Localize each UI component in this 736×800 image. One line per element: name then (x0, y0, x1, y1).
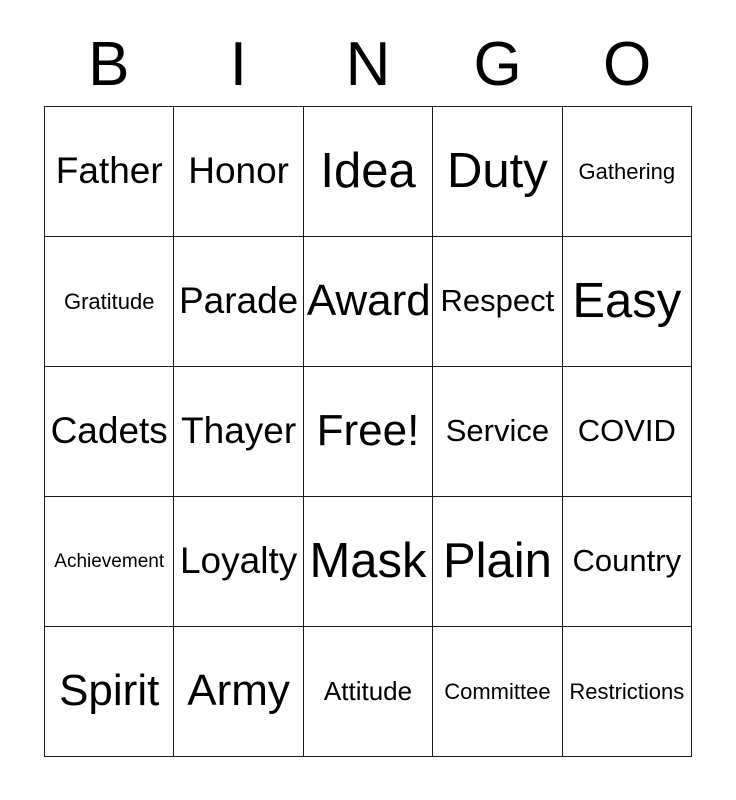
bingo-cell-label: Award (307, 278, 429, 324)
bingo-cell-label: Army (177, 668, 299, 714)
bingo-cell[interactable]: Award (304, 237, 433, 367)
bingo-cell-label: Mask (307, 536, 429, 587)
header-letter-label: G (473, 34, 521, 96)
bingo-cell-label: Loyalty (177, 542, 299, 581)
bingo-cell[interactable]: Attitude (304, 627, 433, 757)
bingo-cell[interactable]: Gathering (563, 107, 692, 237)
bingo-cell-label: Duty (436, 146, 558, 197)
bingo-cell-label: Thayer (177, 412, 299, 451)
bingo-cell[interactable]: Loyalty (174, 497, 303, 627)
header-letter-label: B (88, 34, 129, 96)
bingo-cell[interactable]: Country (563, 497, 692, 627)
bingo-cell[interactable]: Gratitude (45, 237, 174, 367)
bingo-cell[interactable]: COVID (563, 367, 692, 497)
header-letter-o: O (562, 30, 692, 100)
bingo-cell[interactable]: Respect (433, 237, 562, 367)
bingo-cell-label: Idea (307, 146, 429, 197)
bingo-cell-label: Father (48, 152, 170, 191)
bingo-header: B I N G O (44, 30, 692, 100)
bingo-cell[interactable]: Achievement (45, 497, 174, 627)
bingo-cell[interactable]: Parade (174, 237, 303, 367)
bingo-card: B I N G O Father Honor Idea Duty (0, 0, 736, 800)
bingo-cell-label: COVID (566, 415, 688, 448)
bingo-cell-label: Free! (307, 408, 429, 454)
bingo-cell[interactable]: Restrictions (563, 627, 692, 757)
header-letter-n: N (303, 30, 433, 100)
bingo-cell[interactable]: Mask (304, 497, 433, 627)
bingo-cell-label: Committee (436, 680, 558, 703)
bingo-cell-label: Respect (436, 285, 558, 318)
bingo-grid: Father Honor Idea Duty Gathering Gratitu… (44, 106, 692, 757)
bingo-cell-label: Cadets (48, 412, 170, 451)
bingo-cell[interactable]: Spirit (45, 627, 174, 757)
bingo-cell[interactable]: Service (433, 367, 562, 497)
bingo-cell[interactable]: Honor (174, 107, 303, 237)
bingo-row: Spirit Army Attitude Committee Restricti… (45, 627, 692, 757)
bingo-cell-label: Plain (436, 536, 558, 587)
bingo-row: Father Honor Idea Duty Gathering (45, 107, 692, 237)
bingo-cell-label: Easy (566, 276, 688, 327)
bingo-row: Cadets Thayer Free! Service COVID (45, 367, 692, 497)
bingo-cell-label: Attitude (307, 678, 429, 705)
bingo-cell[interactable]: Idea (304, 107, 433, 237)
header-letter-b: B (44, 30, 174, 100)
header-letter-label: N (346, 34, 391, 96)
bingo-cell[interactable]: Committee (433, 627, 562, 757)
header-letter-label: O (603, 34, 651, 96)
bingo-cell-label: Gratitude (48, 290, 170, 313)
bingo-cell[interactable]: Easy (563, 237, 692, 367)
bingo-cell[interactable]: Duty (433, 107, 562, 237)
bingo-row: Achievement Loyalty Mask Plain Country (45, 497, 692, 627)
header-letter-label: I (230, 34, 247, 96)
bingo-cell[interactable]: Army (174, 627, 303, 757)
bingo-cell[interactable]: Cadets (45, 367, 174, 497)
bingo-cell-label: Spirit (48, 668, 170, 714)
bingo-cell-label: Country (566, 545, 688, 578)
bingo-cell-label: Gathering (566, 160, 688, 183)
bingo-cell[interactable]: Father (45, 107, 174, 237)
bingo-cell-label: Achievement (48, 552, 170, 572)
bingo-cell[interactable]: Thayer (174, 367, 303, 497)
bingo-cell-label: Honor (177, 152, 299, 191)
bingo-cell-free-space[interactable]: Free! (304, 367, 433, 497)
header-letter-i: I (174, 30, 304, 100)
header-letter-g: G (433, 30, 563, 100)
bingo-cell-label: Parade (177, 282, 299, 321)
bingo-cell[interactable]: Plain (433, 497, 562, 627)
bingo-row: Gratitude Parade Award Respect Easy (45, 237, 692, 367)
bingo-cell-label: Service (436, 415, 558, 448)
bingo-cell-label: Restrictions (566, 680, 688, 703)
